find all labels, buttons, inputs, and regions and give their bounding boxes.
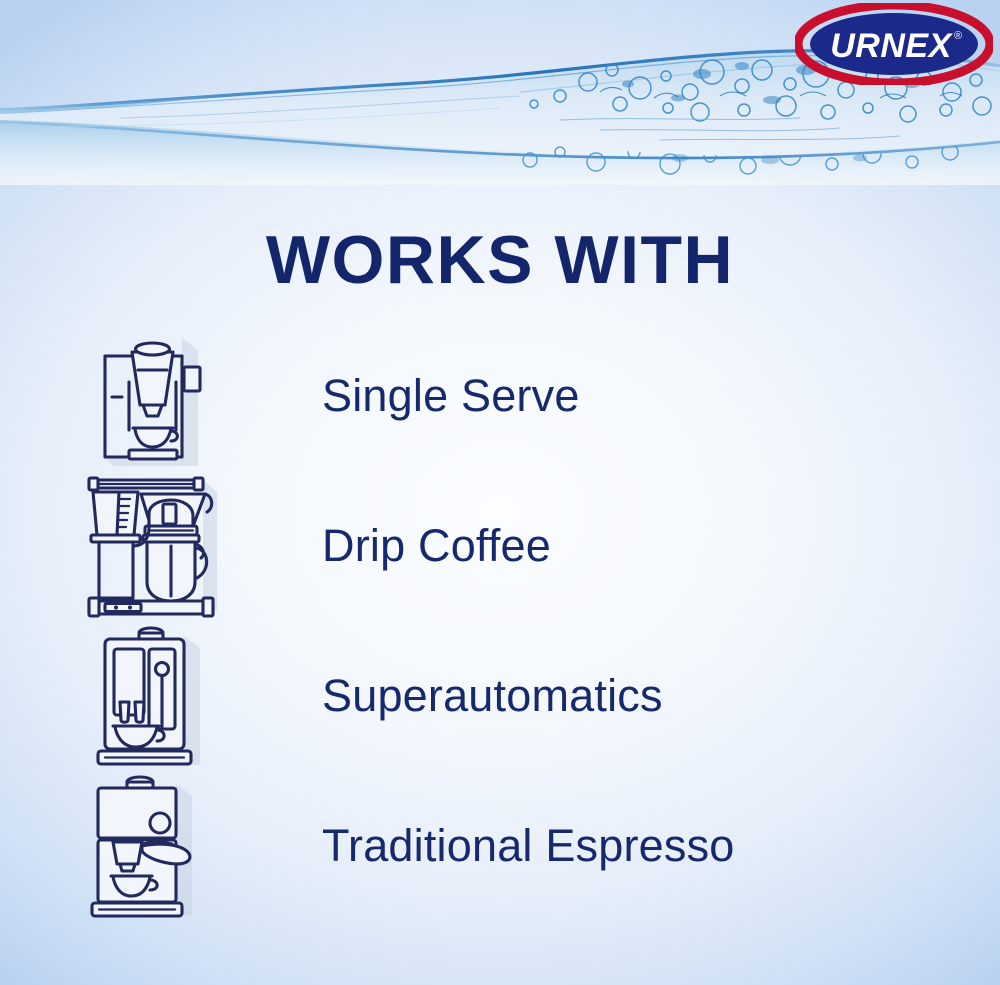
logo-wordmark: URNEX bbox=[830, 27, 953, 65]
superautomatic-machine-icon bbox=[0, 620, 300, 770]
list-item-label: Superautomatics bbox=[322, 673, 663, 718]
list-item-label: Single Serve bbox=[322, 373, 580, 418]
traditional-espresso-machine-icon bbox=[0, 770, 300, 920]
list-item: Single Serve bbox=[0, 320, 1000, 470]
list-item: Drip Coffee bbox=[0, 470, 1000, 620]
page-title: WORKS WITH bbox=[0, 226, 1000, 294]
drip-coffee-maker-icon bbox=[0, 470, 300, 620]
single-serve-machine-icon bbox=[0, 320, 300, 470]
compatibility-list: Single Serve bbox=[0, 320, 1000, 920]
list-item-label: Traditional Espresso bbox=[322, 823, 735, 868]
logo-registered-mark: ® bbox=[954, 30, 962, 42]
list-item-label: Drip Coffee bbox=[322, 523, 551, 568]
list-item: Superautomatics bbox=[0, 620, 1000, 770]
list-item: Traditional Espresso bbox=[0, 770, 1000, 920]
works-with-poster: URNEX ® WORKS WITH bbox=[0, 0, 1000, 985]
urnex-logo: URNEX ® bbox=[795, 3, 993, 85]
